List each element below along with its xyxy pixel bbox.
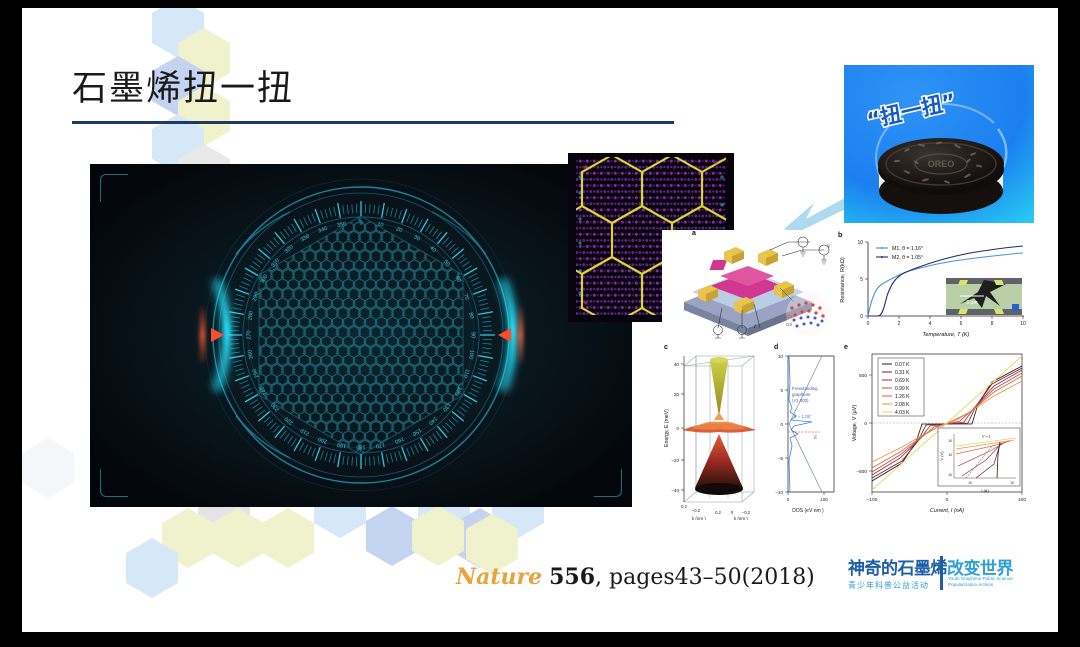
svg-text:180: 180 xyxy=(356,444,365,450)
svg-text:10: 10 xyxy=(948,439,952,443)
panel-a-device-schematic: a xyxy=(662,230,834,342)
svg-text:80: 80 xyxy=(467,312,474,319)
panel-c-graphic: 40200 −20−40 Energy, E (meV) 0.2 −0.2 0.… xyxy=(662,342,772,520)
panel-b-letter: b xyxy=(838,232,842,239)
svg-text:0: 0 xyxy=(787,497,790,502)
svg-text:0.2: 0.2 xyxy=(715,510,721,515)
svg-text:0: 0 xyxy=(780,422,783,427)
svg-text:0.69 K: 0.69 K xyxy=(895,378,910,384)
svg-text:0.99 K: 0.99 K xyxy=(895,386,910,392)
svg-text:−100: −100 xyxy=(867,497,878,503)
svg-text:10: 10 xyxy=(377,222,384,229)
svg-text:−500: −500 xyxy=(856,469,867,475)
slide-canvas: 石墨烯扭一扭 xyxy=(22,8,1058,632)
oreo-cookie-image: OREO “扭一扭” xyxy=(844,65,1034,223)
panel-e-letter: e xyxy=(844,344,848,351)
svg-text:90: 90 xyxy=(470,332,476,338)
slide-frame: 石墨烯扭一扭 xyxy=(0,0,1080,647)
svg-text:0: 0 xyxy=(731,510,734,515)
svg-text:1.26 K: 1.26 K xyxy=(895,394,910,400)
panel-e-voltage-current: e 5000−500 xyxy=(842,342,1042,520)
citation-pages: , pages43–50(2018) xyxy=(595,565,815,590)
brand-subtitle-en: Youth Graphene Public Science Populariza… xyxy=(948,576,1013,588)
svg-text:10: 10 xyxy=(1020,321,1026,327)
panel-b-graphic: 0510 024 6810 xyxy=(834,230,1042,342)
svg-text:Voltage, V (µV): Voltage, V (µV) xyxy=(852,405,858,442)
panel-d-letter: d xyxy=(774,344,778,351)
panel-c-letter: c xyxy=(664,344,668,351)
panel-b-resistance-temperature: b 0510 xyxy=(834,230,1042,342)
citation-volume: 556 xyxy=(549,564,595,590)
svg-text:graphene: graphene xyxy=(792,392,811,397)
nature-figure-composite: a xyxy=(662,230,1042,520)
svg-text:5 µm: 5 µm xyxy=(966,300,977,306)
svg-text:M2, θ = 1.05°: M2, θ = 1.05° xyxy=(892,255,923,261)
svg-text:10: 10 xyxy=(1010,481,1014,485)
svg-text:k (nm ): k (nm ) xyxy=(692,516,706,520)
svg-text:V = I: V = I xyxy=(982,435,991,439)
svg-text:−0.2: −0.2 xyxy=(742,510,751,515)
svg-text:10: 10 xyxy=(948,473,952,477)
svg-text:0.2: 0.2 xyxy=(681,504,687,509)
svg-text:10: 10 xyxy=(857,240,863,246)
svg-text:0.31 K: 0.31 K xyxy=(895,370,910,376)
svg-text:V (V): V (V) xyxy=(939,451,944,461)
svg-text:40: 40 xyxy=(674,362,680,367)
svg-text:2: 2 xyxy=(898,321,901,327)
svg-text:OREO: OREO xyxy=(928,159,955,169)
citation-journal: Nature xyxy=(456,564,542,590)
svg-text:θ = 1.05°: θ = 1.05° xyxy=(794,414,812,419)
svg-text:−10: −10 xyxy=(775,490,783,495)
panel-d-graphic: 1050 −5−10 0100 E Freestanding graphene xyxy=(772,342,842,520)
brand-prefix: 神奇的 xyxy=(848,559,898,579)
svg-text:−20: −20 xyxy=(671,458,679,463)
panel-d-dos-plot: d xyxy=(772,342,842,520)
brand-subtitle-en-line2: Popularization Actions xyxy=(948,582,1013,588)
svg-text:20: 20 xyxy=(674,392,680,397)
svg-text:k (nm ): k (nm ) xyxy=(734,516,748,520)
panel-a-letter: a xyxy=(692,230,696,237)
svg-text:Freestanding: Freestanding xyxy=(792,386,818,391)
panel-c-band-structure: c xyxy=(662,342,772,520)
svg-text:10: 10 xyxy=(948,453,952,457)
svg-text:0: 0 xyxy=(359,220,362,226)
panel-a-graphic: V I xyxy=(662,230,834,342)
svg-text:4.03 K: 4.03 K xyxy=(895,410,910,416)
svg-text:4: 4 xyxy=(929,321,932,327)
brand-logo: 神奇的石墨烯改变世界 青少年科普公益活动 Youth Graphene Publ… xyxy=(848,554,1034,596)
citation-text: Nature 556, pages43–50(2018) xyxy=(456,564,815,590)
svg-text:0: 0 xyxy=(867,321,870,327)
svg-text:Energy, E (meV): Energy, E (meV) xyxy=(664,409,670,447)
svg-text:I: I xyxy=(753,325,756,330)
frame-corner-top-left-icon xyxy=(100,174,128,202)
page-title: 石墨烯扭一扭 xyxy=(72,70,692,109)
svg-text:M1, θ = 1.16°: M1, θ = 1.16° xyxy=(892,246,923,252)
brand-divider xyxy=(940,556,943,590)
svg-text:V: V xyxy=(827,245,831,250)
panel-e-graphic: 5000−500 −1000100 xyxy=(842,342,1042,520)
svg-text:Current, I (nA): Current, I (nA) xyxy=(930,508,964,514)
svg-text:0.07 K: 0.07 K xyxy=(895,362,910,368)
title-block: 石墨烯扭一扭 xyxy=(72,70,692,124)
svg-text:5: 5 xyxy=(780,388,783,393)
dial-graphic: 0102030405060708090100110120130140150160… xyxy=(90,164,632,507)
svg-text:500: 500 xyxy=(859,373,867,379)
svg-text:6: 6 xyxy=(960,321,963,327)
title-underline xyxy=(72,121,674,124)
hero-graphene-dial-image: 0102030405060708090100110120130140150160… xyxy=(90,164,632,507)
svg-text:G2: G2 xyxy=(786,322,793,327)
svg-text:0: 0 xyxy=(860,314,863,320)
svg-text:−40: −40 xyxy=(671,488,679,493)
svg-text:2.08 K: 2.08 K xyxy=(895,402,910,408)
svg-text:5: 5 xyxy=(860,277,863,283)
svg-text:−5: −5 xyxy=(778,456,784,461)
svg-text:10: 10 xyxy=(968,481,972,485)
svg-text:Resistance, R(kΩ): Resistance, R(kΩ) xyxy=(840,257,846,303)
svg-text:Temperature, T (K): Temperature, T (K) xyxy=(922,332,969,338)
svg-text:G1: G1 xyxy=(786,314,793,319)
svg-text:I (A): I (A) xyxy=(981,488,989,493)
svg-text:270: 270 xyxy=(246,330,252,339)
svg-text:(×1,000): (×1,000) xyxy=(792,398,809,403)
svg-text:0: 0 xyxy=(676,426,679,431)
svg-text:0: 0 xyxy=(946,497,949,503)
svg-text:E: E xyxy=(813,436,817,441)
svg-text:100: 100 xyxy=(1018,497,1026,503)
svg-text:8: 8 xyxy=(991,321,994,327)
frame-corner-bottom-left-icon xyxy=(100,469,128,497)
svg-text:−0.2: −0.2 xyxy=(692,508,701,513)
svg-text:0: 0 xyxy=(864,421,867,427)
svg-text:DOS (eV nm ): DOS (eV nm ) xyxy=(792,508,824,514)
svg-text:100: 100 xyxy=(820,497,828,502)
svg-text:10: 10 xyxy=(778,354,784,359)
frame-corner-bottom-right-icon xyxy=(594,469,622,497)
